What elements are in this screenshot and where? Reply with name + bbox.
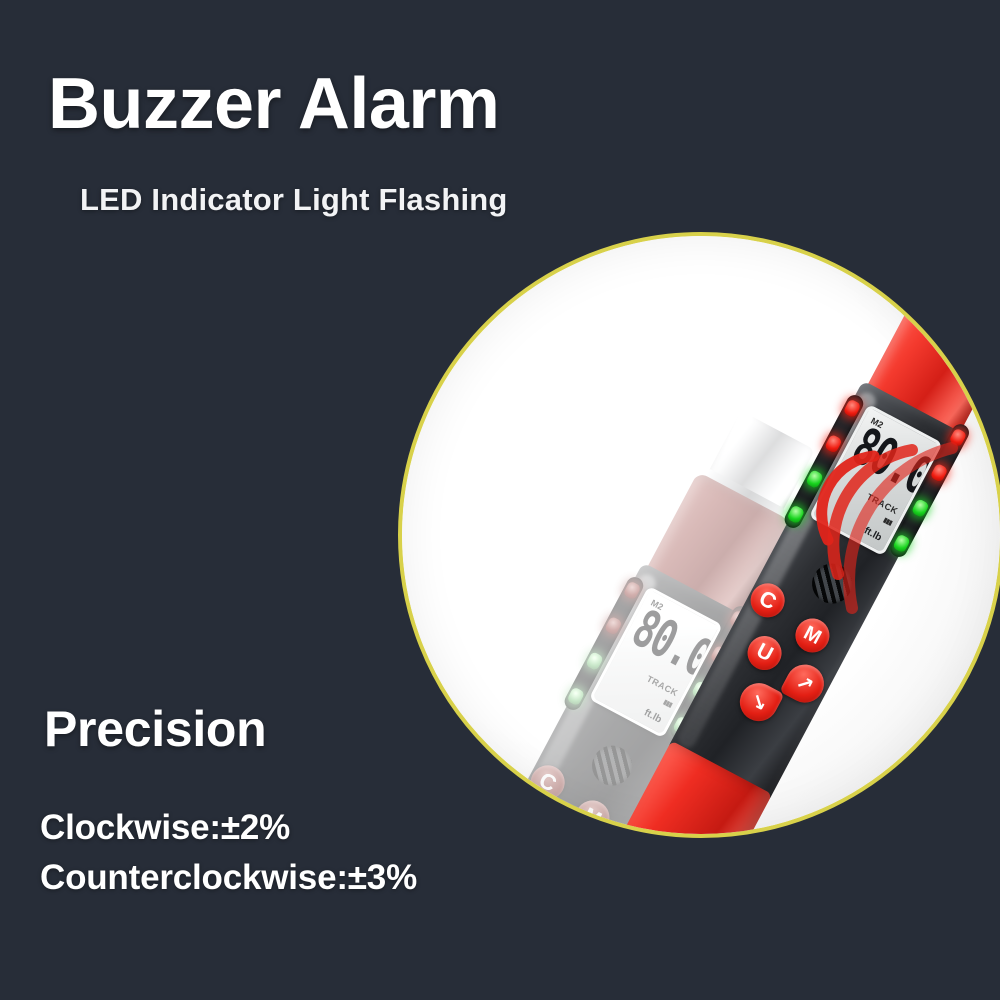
- lcd-unit-label: ft.lb: [862, 525, 883, 543]
- precision-counterclockwise: Counterclockwise:±3%: [40, 858, 417, 898]
- led-green-4: [892, 533, 911, 553]
- decrease-button[interactable]: ↘: [733, 676, 784, 727]
- precision-clockwise: Clockwise:±2%: [40, 808, 290, 848]
- precision-heading: Precision: [44, 700, 266, 758]
- led-red-4: [930, 463, 949, 483]
- increase-button[interactable]: ↗: [779, 658, 830, 709]
- led-green-3: [911, 498, 930, 518]
- page-title: Buzzer Alarm: [48, 68, 499, 140]
- poster-canvas: Buzzer Alarm LED Indicator Light Flashin…: [0, 0, 1000, 1000]
- unit-button[interactable]: U: [742, 630, 788, 676]
- battery-icon: ▮▮▮: [882, 516, 893, 527]
- power-button[interactable]: C: [745, 577, 791, 623]
- led-red-3: [948, 427, 967, 447]
- mode-button[interactable]: M: [789, 612, 835, 658]
- product-photo-circle: M2 80.00 TRACK ▮▮▮ ft.lb C M U ↗ ↘: [398, 232, 1000, 838]
- power-button-ghost: C: [525, 759, 571, 805]
- unit-button-ghost: U: [522, 812, 568, 838]
- page-subtitle: LED Indicator Light Flashing: [80, 182, 508, 218]
